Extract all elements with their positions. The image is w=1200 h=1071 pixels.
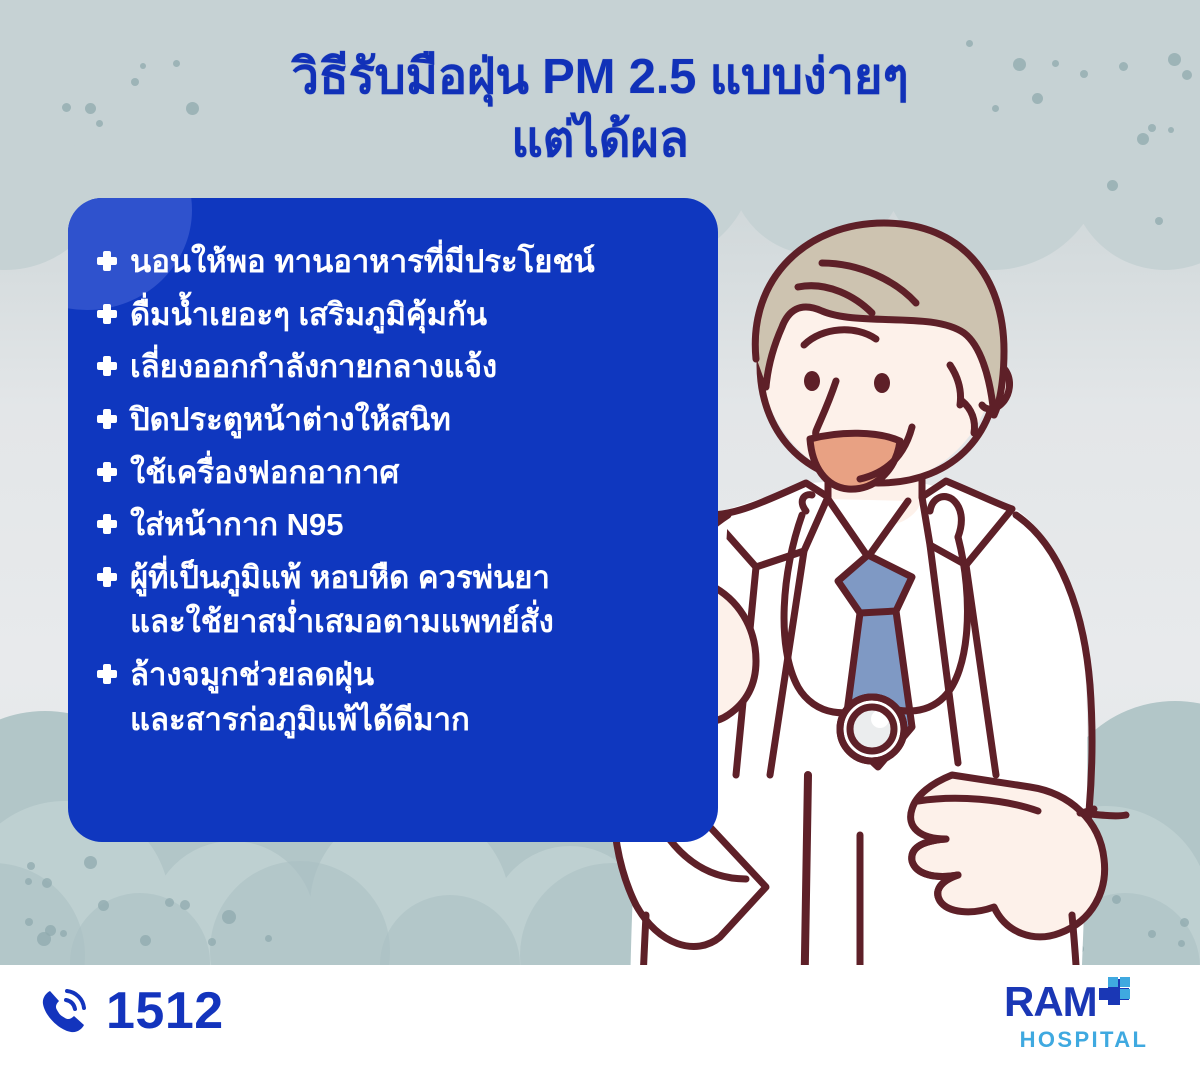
logo-name: RAM — [1004, 981, 1097, 1023]
list-item-label: ใส่หน้ากาก N95 — [130, 503, 344, 548]
list-item: ดื่มน้ำเยอะๆ เสริมภูมิคุ้มกัน — [90, 293, 696, 338]
title-line-2: แต่ได้ผล — [0, 109, 1200, 172]
phone-call-icon — [38, 985, 90, 1037]
list-item: นอนให้พอ ทานอาหารที่มีประโยชน์ — [90, 240, 696, 285]
list-item-label: ดื่มน้ำเยอะๆ เสริมภูมิคุ้มกัน — [130, 293, 487, 338]
dust-particle — [98, 900, 109, 911]
dust-particle — [1107, 180, 1118, 191]
plus-cross-icon — [96, 566, 118, 588]
plus-cross-icon — [96, 513, 118, 535]
list-item: ใช้เครื่องฟอกอากาศ — [90, 451, 696, 496]
title-line-1: วิธีรับมือฝุ่น PM 2.5 แบบง่ายๆ — [292, 50, 909, 104]
list-item: เลี่ยงออกกำลังกายกลางแจ้ง — [90, 345, 696, 390]
list-item-label: ผู้ที่เป็นภูมิแพ้ หอบหืด ควรพ่นยา และใช้… — [130, 556, 554, 645]
plus-cross-icon — [96, 355, 118, 377]
medical-cross-icon — [1099, 977, 1133, 1011]
dust-particle — [222, 910, 236, 924]
plus-cross-icon — [96, 303, 118, 325]
list-item: ผู้ที่เป็นภูมิแพ้ หอบหืด ควรพ่นยา และใช้… — [90, 556, 696, 645]
list-item-label: ใช้เครื่องฟอกอากาศ — [130, 451, 399, 496]
list-item: ใส่หน้ากาก N95 — [90, 503, 696, 548]
dust-particle — [25, 878, 32, 885]
hotline-number: 1512 — [106, 985, 224, 1037]
dust-particle — [84, 856, 97, 869]
list-item-label: ปิดประตูหน้าต่างให้สนิท — [130, 398, 451, 443]
plus-cross-icon — [96, 408, 118, 430]
dust-particle — [180, 900, 190, 910]
footer-bar: 1512 RAM HOSPITAL — [0, 965, 1200, 1071]
list-item: ปิดประตูหน้าต่างให้สนิท — [90, 398, 696, 443]
tips-list: นอนให้พอ ทานอาหารที่มีประโยชน์ ดื่มน้ำเย… — [68, 198, 718, 742]
list-item-label: นอนให้พอ ทานอาหารที่มีประโยชน์ — [130, 240, 595, 285]
plus-cross-icon — [96, 250, 118, 272]
dust-particle — [165, 898, 174, 907]
plus-cross-icon — [96, 663, 118, 685]
list-item: ล้างจมูกช่วยลดฝุ่น และสารก่อภูมิแพ้ได้ดี… — [90, 653, 696, 742]
dust-particle — [140, 935, 151, 946]
list-item-label: ล้างจมูกช่วยลดฝุ่น และสารก่อภูมิแพ้ได้ดี… — [130, 653, 470, 742]
infographic-poster: วิธีรับมือฝุ่น PM 2.5 แบบง่ายๆ แต่ได้ผล … — [0, 0, 1200, 1071]
list-item-label: เลี่ยงออกกำลังกายกลางแจ้ง — [130, 345, 497, 390]
dust-particle — [37, 932, 51, 946]
dust-particle — [265, 935, 272, 942]
dust-particle — [42, 878, 52, 888]
logo-wordmark-row: RAM — [1004, 981, 1176, 1023]
dust-particle — [25, 918, 33, 926]
dust-particle — [208, 938, 216, 946]
ram-hospital-logo: RAM HOSPITAL — [1004, 981, 1176, 1055]
tips-card: นอนให้พอ ทานอาหารที่มีประโยชน์ ดื่มน้ำเย… — [68, 198, 718, 842]
plus-cross-icon — [96, 461, 118, 483]
dust-particle — [60, 930, 67, 937]
hotline-block[interactable]: 1512 — [38, 985, 224, 1037]
poster-title: วิธีรับมือฝุ่น PM 2.5 แบบง่ายๆ แต่ได้ผล — [0, 46, 1200, 171]
dust-particle — [27, 862, 35, 870]
logo-subtitle: HOSPITAL — [1004, 1027, 1176, 1053]
